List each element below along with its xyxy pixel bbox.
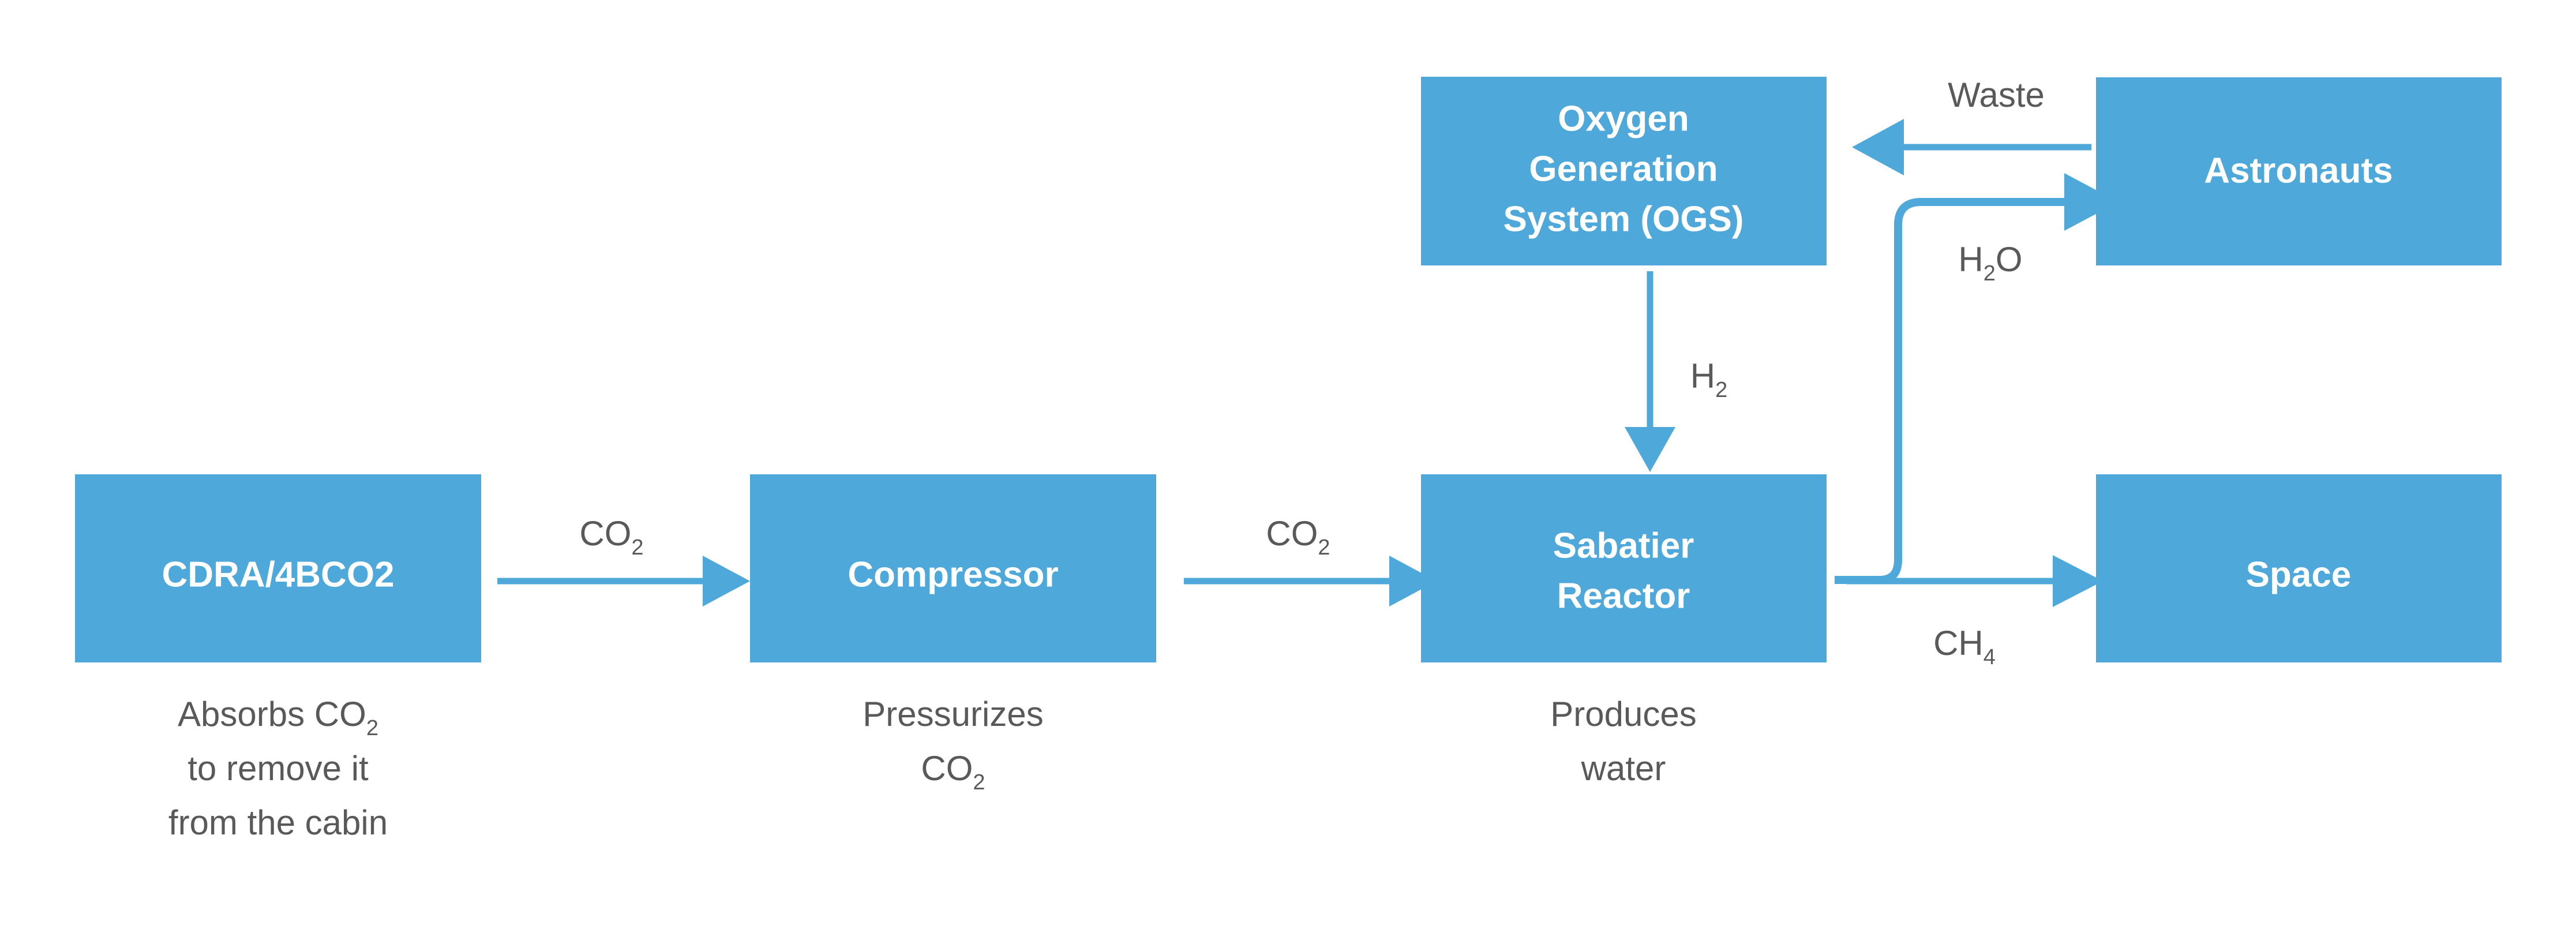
edge-astronauts-to-ogs: Waste <box>1852 76 2091 175</box>
flow-diagram-canvas: CO2 CO2 H2 Waste H2O <box>0 0 2576 925</box>
caption-sabatier: Produces water <box>1550 695 1696 788</box>
node-sabatier-label-line-1: Sabatier <box>1553 526 1694 566</box>
node-space-label: Space <box>2246 555 2352 594</box>
caption-sabatier-line-1: Produces <box>1550 695 1696 733</box>
edge-cdra-to-compressor: CO2 <box>497 514 750 606</box>
edge-label-h2: H2 <box>1690 357 1727 402</box>
flow-diagram: CO2 CO2 H2 Waste H2O <box>0 0 2576 925</box>
arrow-head-icon <box>703 556 750 606</box>
caption-cdra-line-1: Absorbs CO2 <box>178 695 378 740</box>
node-cdra[interactable]: CDRA/4BCO2 <box>75 474 481 662</box>
node-ogs-label-line-3: System (OGS) <box>1503 199 1744 239</box>
arrow-head-icon <box>1852 119 1904 175</box>
caption-compressor: Pressurizes CO2 <box>863 695 1043 795</box>
edge-sabatier-to-astronauts: H2O <box>1835 173 2118 580</box>
node-astronauts-label: Astronauts <box>2204 151 2393 190</box>
edge-label-co2-2: CO2 <box>1266 514 1330 560</box>
edge-label-ch4: CH4 <box>1933 624 1996 669</box>
node-compressor-label: Compressor <box>848 555 1058 594</box>
node-cdra-label: CDRA/4BCO2 <box>162 555 394 594</box>
node-sabatier-label-line-2: Reactor <box>1557 576 1690 616</box>
caption-sabatier-line-2: water <box>1581 749 1666 788</box>
node-space[interactable]: Space <box>2096 474 2502 662</box>
node-compressor[interactable]: Compressor <box>750 474 1156 662</box>
edge-label-h2o: H2O <box>1958 240 2022 286</box>
edge-label-co2-1: CO2 <box>579 514 643 560</box>
caption-compressor-line-2: CO2 <box>921 749 985 795</box>
node-astronauts[interactable]: Astronauts <box>2096 77 2502 265</box>
edge-sabatier-to-space: CH4 <box>1846 555 2103 669</box>
caption-compressor-line-1: Pressurizes <box>863 695 1043 733</box>
node-ogs-label-line-1: Oxygen <box>1558 99 1689 138</box>
caption-cdra-line-3: from the cabin <box>168 803 388 842</box>
node-sabatier-rect[interactable] <box>1421 474 1827 662</box>
edge-path <box>1835 202 2071 580</box>
edge-compressor-to-sabatier: CO2 <box>1184 514 1437 606</box>
node-ogs-label-line-2: Generation <box>1529 149 1718 189</box>
node-sabatier[interactable]: Sabatier Reactor <box>1421 474 1827 662</box>
caption-cdra: Absorbs CO2 to remove it from the cabin <box>168 695 388 842</box>
edge-label-waste: Waste <box>1948 76 2045 114</box>
arrow-head-icon <box>1625 427 1675 472</box>
arrow-head-icon <box>2053 555 2103 607</box>
edge-ogs-to-sabatier: H2 <box>1625 271 1727 472</box>
node-ogs[interactable]: Oxygen Generation System (OGS) <box>1421 77 1827 265</box>
caption-cdra-line-2: to remove it <box>188 749 369 788</box>
